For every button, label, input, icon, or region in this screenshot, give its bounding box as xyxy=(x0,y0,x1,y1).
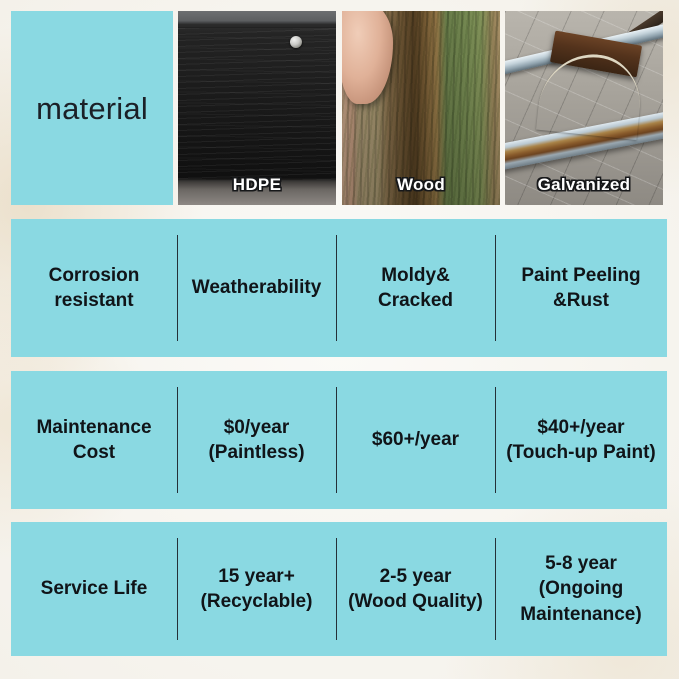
photo-caption-galvanized: Galvanized xyxy=(505,175,663,195)
header-row: material HDPE Wood Galvanized xyxy=(11,11,667,205)
cell-line: $60+/year xyxy=(372,429,459,450)
cell-corrosion-hdpe: Weatherability xyxy=(177,219,336,357)
column-divider xyxy=(336,235,337,341)
comparison-row-service-life: Service Life 15 year+ (Recyclable) 2-5 y… xyxy=(11,522,667,656)
cell-line: Moldy& xyxy=(381,265,450,286)
cell-line: 2-5 year xyxy=(380,566,452,587)
cell-service-life-wood: 2-5 year (Wood Quality) xyxy=(336,522,495,656)
cell-line: &Rust xyxy=(553,290,609,311)
cell-line: 15 year+ xyxy=(218,566,295,587)
photo-panel-hdpe: HDPE xyxy=(178,11,336,205)
cell-line: (Wood Quality) xyxy=(348,591,483,612)
cell-line: (Ongoing xyxy=(539,578,623,599)
column-divider xyxy=(177,387,178,493)
column-divider xyxy=(177,235,178,341)
photo-panel-wood: Wood xyxy=(342,11,500,205)
column-divider xyxy=(495,387,496,493)
cell-line: 5-8 year xyxy=(545,553,617,574)
comparison-row-corrosion: Corrosion resistant Weatherability Moldy… xyxy=(11,219,667,357)
cell-line: $40+/year xyxy=(537,417,624,438)
row-label-line: Service Life xyxy=(41,578,148,599)
cell-line: Weatherability xyxy=(192,277,322,298)
row-label-line: Corrosion xyxy=(49,265,140,286)
cell-line: Maintenance) xyxy=(520,604,641,625)
column-divider xyxy=(495,538,496,640)
page-title: material xyxy=(36,93,148,124)
cell-line: (Recyclable) xyxy=(201,591,313,612)
cell-maintenance-hdpe: $0/year (Paintless) xyxy=(177,371,336,509)
row-label-line: resistant xyxy=(54,290,133,311)
row-label-corrosion: Corrosion resistant xyxy=(11,219,177,357)
row-label-line: Cost xyxy=(73,442,115,463)
cell-service-life-galvanized: 5-8 year (Ongoing Maintenance) xyxy=(495,522,667,656)
cell-corrosion-galvanized: Paint Peeling &Rust xyxy=(495,219,667,357)
cell-line: $0/year xyxy=(224,417,290,438)
column-divider xyxy=(336,538,337,640)
column-divider xyxy=(495,235,496,341)
photo-caption-wood: Wood xyxy=(342,175,500,195)
column-divider xyxy=(336,387,337,493)
cell-line: Cracked xyxy=(378,290,453,311)
row-label-maintenance-cost: Maintenance Cost xyxy=(11,371,177,509)
row-label-service-life: Service Life xyxy=(11,522,177,656)
cell-corrosion-wood: Moldy& Cracked xyxy=(336,219,495,357)
cell-line: (Paintless) xyxy=(208,442,304,463)
cell-maintenance-wood: $60+/year xyxy=(336,371,495,509)
material-title-block: material xyxy=(11,11,173,205)
comparison-row-maintenance-cost: Maintenance Cost $0/year (Paintless) $60… xyxy=(11,371,667,509)
comparison-infographic: material HDPE Wood Galvanized Corrosion xyxy=(0,0,679,679)
row-label-line: Maintenance xyxy=(36,417,151,438)
photo-panel-galvanized: Galvanized xyxy=(505,11,663,205)
column-divider xyxy=(177,538,178,640)
photo-caption-hdpe: HDPE xyxy=(178,175,336,195)
cell-service-life-hdpe: 15 year+ (Recyclable) xyxy=(177,522,336,656)
cell-line: Paint Peeling xyxy=(521,265,640,286)
cell-line: (Touch-up Paint) xyxy=(506,442,656,463)
cell-maintenance-galvanized: $40+/year (Touch-up Paint) xyxy=(495,371,667,509)
